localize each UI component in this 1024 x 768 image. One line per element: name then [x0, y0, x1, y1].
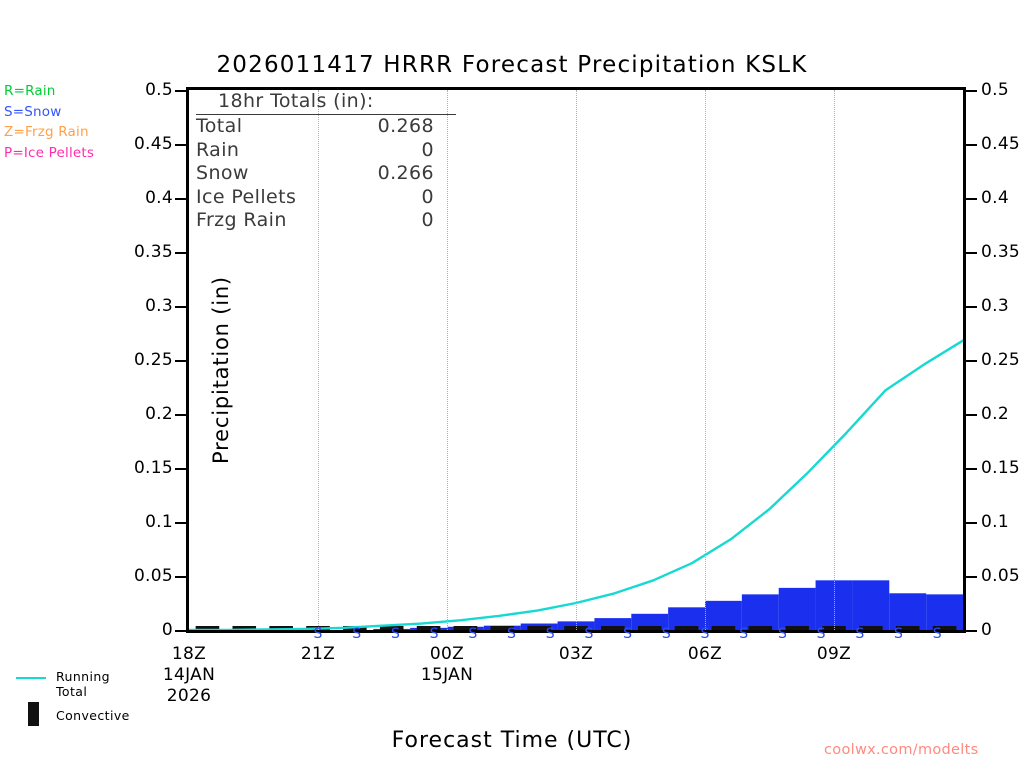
- y-tick-mark-left: [175, 468, 186, 470]
- running-total-swatch-icon: [16, 677, 46, 679]
- y-tick-mark-left: [175, 522, 186, 524]
- y-tick-label-left: 0.15: [93, 458, 173, 478]
- y-tick-mark-right: [966, 198, 977, 200]
- x-tick-label: 09Z: [764, 644, 904, 665]
- page-title: 2026011417 HRRR Forecast Precipitation K…: [0, 52, 1024, 78]
- totals-row-value: 0: [422, 186, 435, 210]
- x-tick-label: 21Z: [248, 644, 388, 665]
- y-tick-mark-right: [966, 360, 977, 362]
- legend-item-rain: R=Rain: [4, 81, 94, 102]
- convective-legend-label: Convective: [56, 708, 130, 723]
- precip-type-marker-snow: S: [662, 626, 671, 642]
- y-tick-label-right: 0.25: [981, 350, 1024, 370]
- bar-convective: [601, 626, 625, 630]
- precip-type-marker-snow: S: [468, 626, 477, 642]
- legend-item-ice-pellets: P=Ice Pellets: [4, 143, 94, 164]
- x-tick-label: 18Z 14JAN 2026: [119, 644, 259, 707]
- y-tick-mark-right: [966, 90, 977, 92]
- y-tick-mark-right: [966, 576, 977, 578]
- precip-type-marker-snow: S: [391, 626, 400, 642]
- totals-row-value: 0.268: [378, 115, 434, 139]
- y-tick-label-left: 0.05: [93, 566, 173, 586]
- totals-row-label: Ice Pellets: [196, 186, 422, 210]
- y-tick-mark-right: [966, 468, 977, 470]
- gridline-vertical: [576, 90, 578, 630]
- precip-type-marker-snow: S: [546, 626, 555, 642]
- bar-convective: [748, 626, 772, 630]
- y-tick-label-left: 0.25: [93, 350, 173, 370]
- y-tick-mark-right: [966, 522, 977, 524]
- y-tick-mark-right: [966, 252, 977, 254]
- bar-hourly-precip: [779, 588, 816, 630]
- y-tick-mark-left: [175, 360, 186, 362]
- legend-item-frzg-rain: Z=Frzg Rain: [4, 122, 94, 143]
- y-tick-mark-left: [175, 414, 186, 416]
- precip-type-marker-snow: S: [507, 626, 516, 642]
- precip-type-marker-snow: S: [855, 626, 864, 642]
- y-tick-label-right: 0.05: [981, 566, 1024, 586]
- totals-row-label: Rain: [196, 139, 422, 163]
- y-tick-label-right: 0: [981, 620, 1024, 640]
- bar-hourly-precip: [926, 594, 963, 630]
- watermark: coolwx.com/modelts: [824, 742, 978, 758]
- y-tick-mark-left: [175, 144, 186, 146]
- y-tick-label-right: 0.1: [981, 512, 1024, 532]
- totals-row: Total0.268: [196, 115, 434, 139]
- bar-convective: [675, 626, 699, 630]
- bar-hourly-precip: [742, 594, 779, 630]
- legend-item-snow: S=Snow: [4, 102, 94, 123]
- x-tick-label: 00Z 15JAN: [377, 644, 517, 686]
- y-tick-label-left: 0.3: [93, 296, 173, 316]
- y-tick-label-left: 0.45: [93, 134, 173, 154]
- y-tick-label-left: 0.1: [93, 512, 173, 532]
- bar-convective: [712, 626, 736, 630]
- y-tick-mark-left: [175, 252, 186, 254]
- y-tick-label-left: 0: [93, 620, 173, 640]
- y-tick-mark-right: [966, 630, 977, 632]
- gridline-vertical: [705, 90, 707, 630]
- precip-type-marker-snow: S: [352, 626, 361, 642]
- y-tick-label-right: 0.2: [981, 404, 1024, 424]
- convective-swatch-icon: [28, 702, 39, 726]
- precip-type-legend: R=Rain S=Snow Z=Frzg Rain P=Ice Pellets: [4, 81, 94, 163]
- y-tick-mark-left: [175, 90, 186, 92]
- y-tick-label-right: 0.35: [981, 242, 1024, 262]
- precip-type-marker-snow: S: [894, 626, 903, 642]
- y-tick-label-right: 0.15: [981, 458, 1024, 478]
- y-tick-label-left: 0.5: [93, 80, 173, 100]
- bar-convective: [638, 626, 662, 630]
- gridline-vertical: [834, 90, 836, 630]
- totals-row-label: Snow: [196, 162, 378, 186]
- totals-row-value: 0.266: [378, 162, 434, 186]
- y-tick-mark-right: [966, 306, 977, 308]
- totals-header: 18hr Totals (in):: [196, 90, 456, 115]
- totals-row-label: Frzg Rain: [196, 209, 422, 233]
- totals-row: Rain0: [196, 139, 434, 163]
- totals-row: Snow0.266: [196, 162, 434, 186]
- totals-rows: Total0.268Rain0Snow0.266Ice Pellets0Frzg…: [196, 115, 456, 233]
- precip-type-marker-snow: S: [739, 626, 748, 642]
- bar-hourly-precip: [889, 593, 926, 630]
- y-tick-label-right: 0.5: [981, 80, 1024, 100]
- running-total-legend-label: Running Total: [56, 669, 110, 699]
- bar-series-hourly: [373, 580, 963, 630]
- totals-row: Frzg Rain0: [196, 209, 434, 233]
- y-tick-mark-left: [175, 306, 186, 308]
- y-tick-label-left: 0.4: [93, 188, 173, 208]
- bar-convective: [785, 626, 809, 630]
- precip-type-marker-snow: S: [584, 626, 593, 642]
- precip-type-marker-snow: S: [817, 626, 826, 642]
- totals-row-label: Total: [196, 115, 378, 139]
- y-tick-label-left: 0.2: [93, 404, 173, 424]
- x-tick-label: 06Z: [635, 644, 775, 665]
- y-tick-mark-left: [175, 576, 186, 578]
- precip-type-marker-snow: S: [701, 626, 710, 642]
- bar-hourly-precip: [705, 601, 742, 630]
- y-tick-mark-right: [966, 144, 977, 146]
- precip-type-marker-snow: S: [430, 626, 439, 642]
- totals-summary-box: 18hr Totals (in): Total0.268Rain0Snow0.2…: [196, 90, 456, 233]
- precip-type-marker-snow: S: [933, 626, 942, 642]
- y-tick-label-right: 0.3: [981, 296, 1024, 316]
- bar-hourly-precip: [852, 580, 889, 630]
- y-tick-mark-left: [175, 630, 186, 632]
- y-tick-mark-left: [175, 198, 186, 200]
- totals-row-value: 0: [422, 139, 435, 163]
- precip-type-marker-snow: S: [314, 626, 323, 642]
- totals-row: Ice Pellets0: [196, 186, 434, 210]
- y-tick-label-left: 0.35: [93, 242, 173, 262]
- x-tick-label: 03Z: [506, 644, 646, 665]
- y-tick-label-right: 0.45: [981, 134, 1024, 154]
- precip-type-marker-snow: S: [623, 626, 632, 642]
- y-tick-mark-right: [966, 414, 977, 416]
- y-tick-label-right: 0.4: [981, 188, 1024, 208]
- precip-type-marker-snow: S: [778, 626, 787, 642]
- totals-row-value: 0: [422, 209, 435, 233]
